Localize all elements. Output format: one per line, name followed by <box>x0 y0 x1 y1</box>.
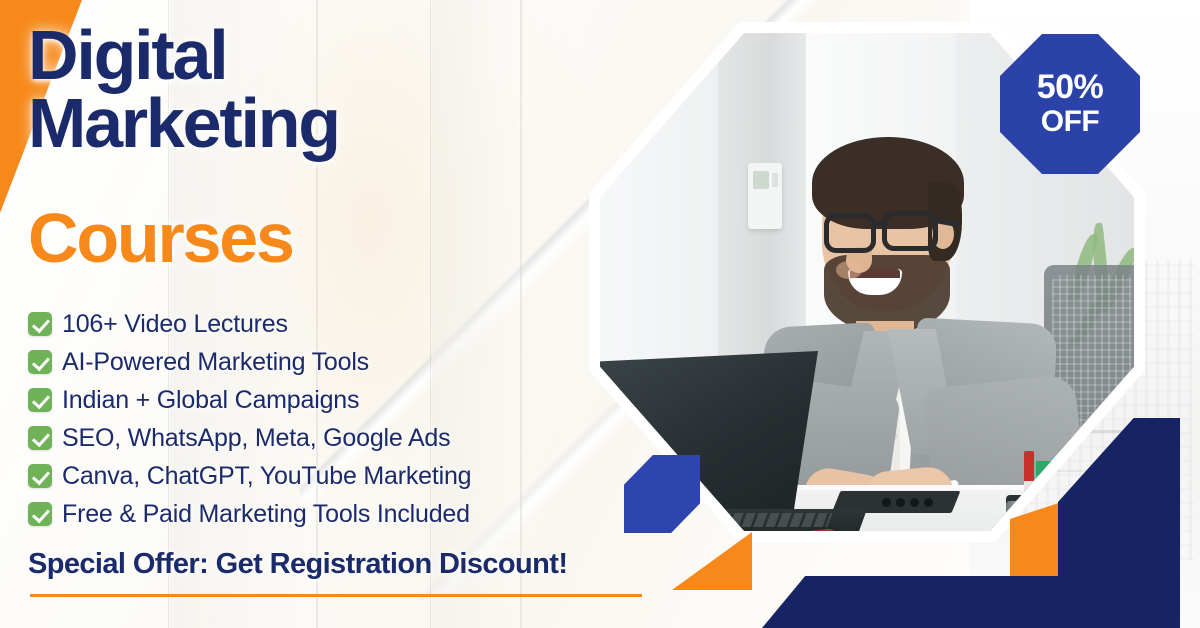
discount-badge[interactable]: 50% OFF <box>1000 34 1140 174</box>
check-icon <box>28 312 52 336</box>
check-icon <box>28 426 52 450</box>
photo-laptop-port <box>910 498 919 507</box>
list-item: Indian + Global Campaigns <box>28 381 628 419</box>
headline-accent: Courses <box>28 203 293 273</box>
list-item: AI-Powered Marketing Tools <box>28 343 628 381</box>
feature-list: 106+ Video Lectures AI-Powered Marketing… <box>28 305 628 533</box>
check-icon <box>28 388 52 412</box>
list-item: SEO, WhatsApp, Meta, Google Ads <box>28 419 628 457</box>
photo-laptop-port <box>896 498 905 507</box>
headline-line-1: Digital <box>28 16 227 94</box>
photo-thermostat <box>748 163 782 229</box>
feature-label: 106+ Video Lectures <box>62 310 288 339</box>
decor-navy-band <box>762 576 1094 628</box>
photo-laptop-port <box>882 498 891 507</box>
check-icon <box>28 350 52 374</box>
decor-navy-band-end <box>1088 576 1138 628</box>
list-item: Canva, ChatGPT, YouTube Marketing <box>28 457 628 495</box>
photo-glasses-left-lens <box>824 213 876 253</box>
list-item: Free & Paid Marketing Tools Included <box>28 495 628 533</box>
check-icon <box>28 464 52 488</box>
check-icon <box>28 502 52 526</box>
list-item: 106+ Video Lectures <box>28 305 628 343</box>
feature-label: Canva, ChatGPT, YouTube Marketing <box>62 462 471 491</box>
special-offer-text: Special Offer: Get Registration Discount… <box>28 548 567 581</box>
headline-line-2: Marketing <box>28 90 588 158</box>
photo-laptop-port <box>924 498 933 507</box>
feature-label: Free & Paid Marketing Tools Included <box>62 500 470 529</box>
discount-label: OFF <box>1041 105 1100 138</box>
photo-glasses-bridge <box>872 221 888 226</box>
feature-label: SEO, WhatsApp, Meta, Google Ads <box>62 424 450 453</box>
page-title: Digital Marketing <box>28 22 588 158</box>
photo-person-cheek <box>836 261 862 279</box>
feature-label: AI-Powered Marketing Tools <box>62 348 369 377</box>
photo-glasses-right-lens <box>882 211 938 251</box>
feature-label: Indian + Global Campaigns <box>62 386 359 415</box>
promo-banner: Digital Marketing Courses 106+ Video Lec… <box>0 0 1200 628</box>
discount-percent: 50% <box>1037 70 1104 106</box>
offer-underline <box>30 594 642 597</box>
